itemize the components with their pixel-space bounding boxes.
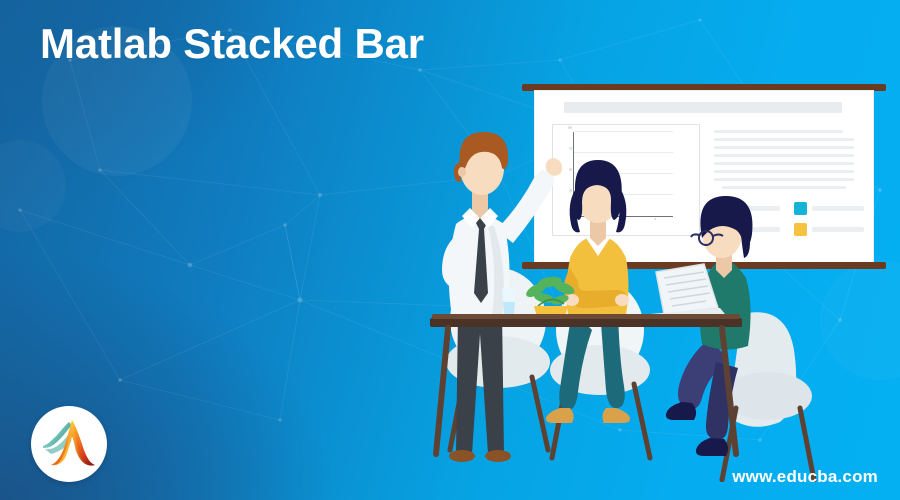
- matlab-membrane-icon: [42, 418, 96, 470]
- page-title: Matlab Stacked Bar: [40, 20, 424, 68]
- water-glass-icon: [502, 288, 516, 318]
- banner-root: Matlab Stacked Bar 0 25 50: [0, 0, 900, 500]
- site-url: www.educba.com: [732, 467, 878, 487]
- illustration-business-presentation: 0 25 50 75 100: [410, 62, 880, 482]
- decorative-circle-2: [0, 140, 66, 232]
- table-and-desk-objects: [410, 62, 880, 482]
- matlab-logo: [31, 406, 107, 482]
